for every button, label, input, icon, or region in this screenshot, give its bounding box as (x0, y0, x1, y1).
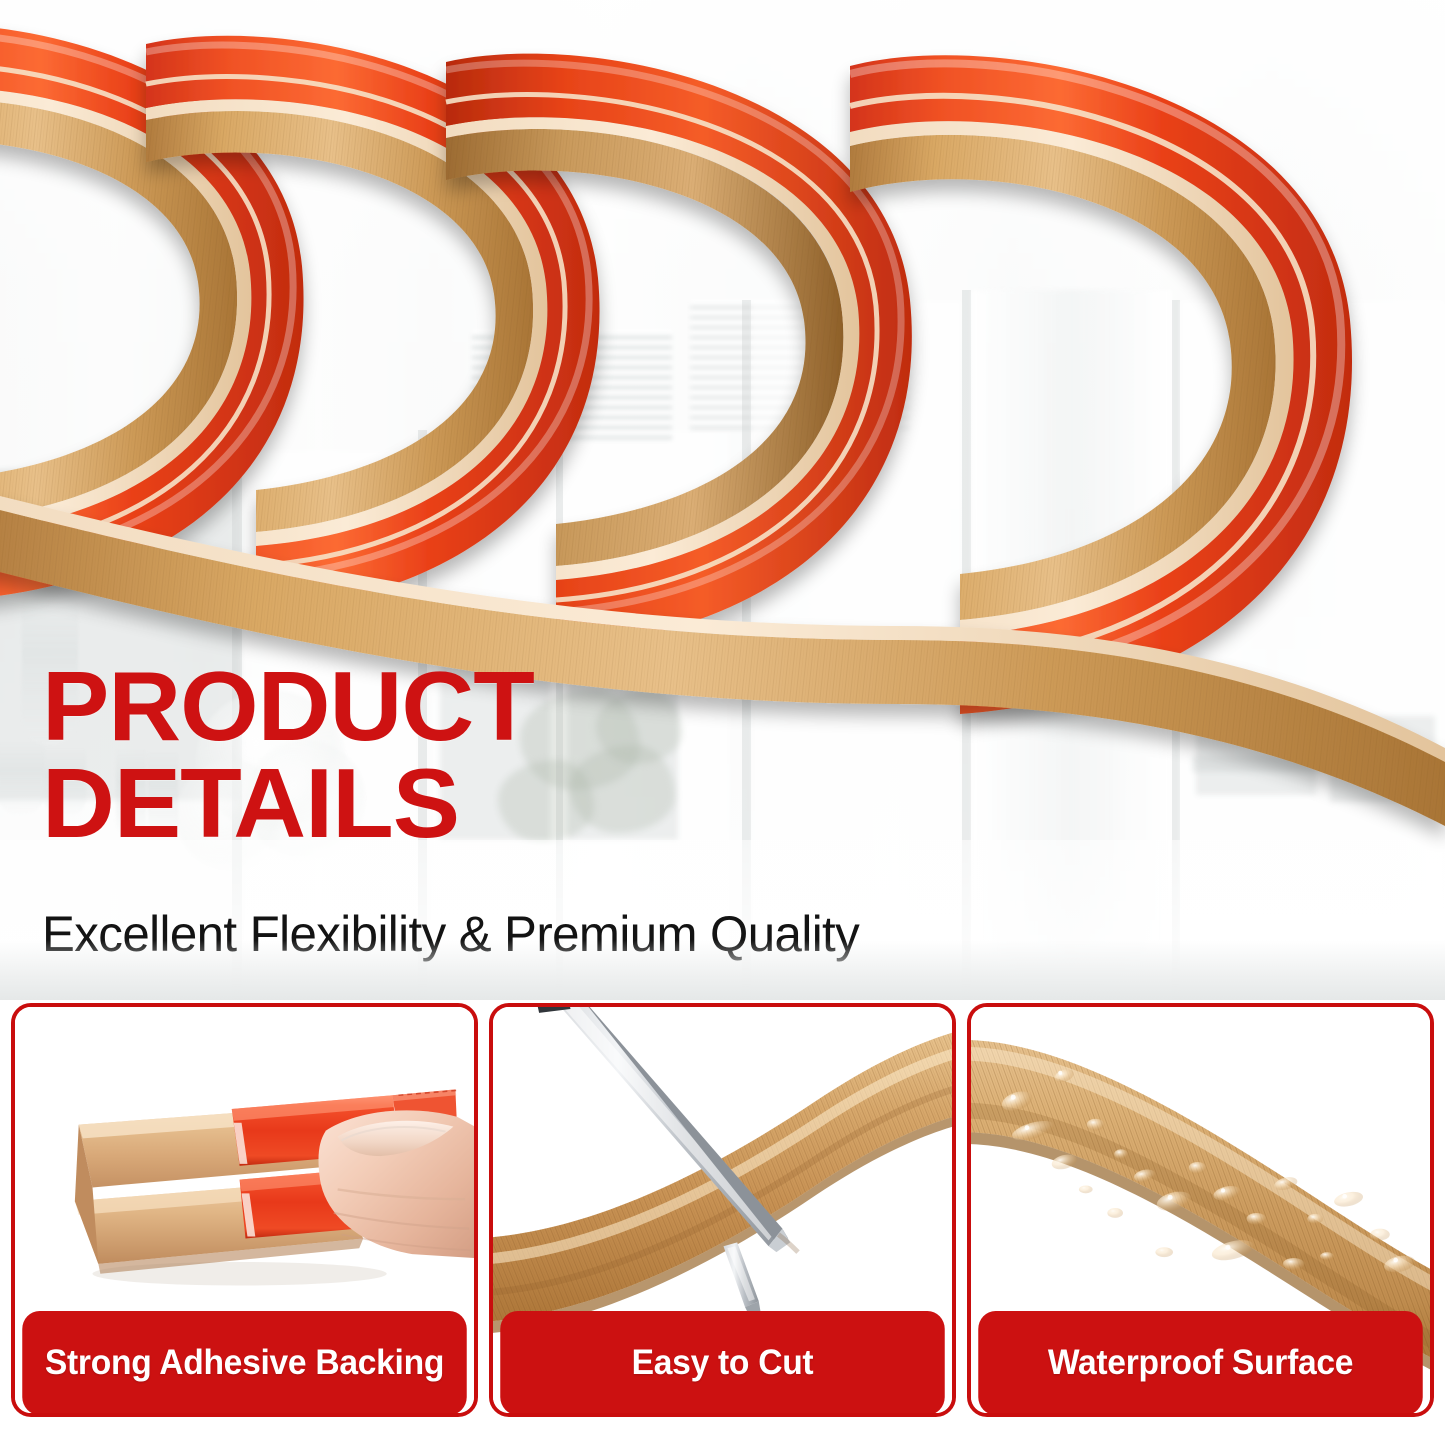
page-title: PRODUCT DETAILS (42, 658, 825, 852)
feature-caption-cut: Easy to Cut (500, 1311, 944, 1415)
headline-line-1: PRODUCT (42, 651, 534, 761)
feature-caption-adhesive: Strong Adhesive Backing (22, 1311, 466, 1415)
hero-floor-gradient (0, 940, 1445, 1000)
feature-panel-row: Strong Adhesive Backing (0, 1003, 1445, 1445)
feature-caption-waterproof: Waterproof Surface (978, 1311, 1422, 1415)
headline-line-2: DETAILS (42, 755, 825, 852)
feature-panel-waterproof[interactable]: Waterproof Surface (967, 1003, 1434, 1417)
product-detail-image: PRODUCT DETAILS Excellent Flexibility & … (0, 0, 1445, 1445)
hero-section: PRODUCT DETAILS Excellent Flexibility & … (0, 0, 1445, 1000)
feature-panel-adhesive[interactable]: Strong Adhesive Backing (11, 1003, 478, 1417)
feature-panel-cut[interactable]: Easy to Cut (489, 1003, 956, 1417)
